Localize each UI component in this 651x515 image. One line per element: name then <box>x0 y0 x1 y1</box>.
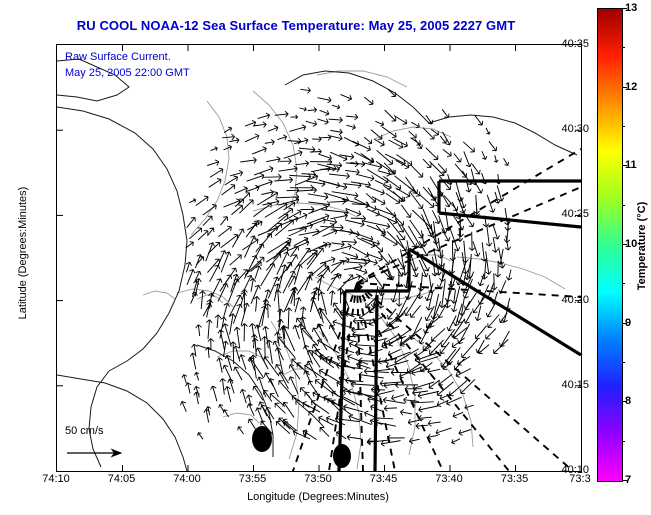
current-vector-head <box>204 409 206 413</box>
x-tick-74-00: 74:00 <box>173 473 201 485</box>
current-vector-head <box>494 287 497 290</box>
current-vector-head <box>444 117 448 118</box>
current-vector-head <box>393 223 397 224</box>
current-vector <box>493 224 498 239</box>
current-vector <box>300 89 310 90</box>
current-vector-head <box>384 386 387 389</box>
current-vector-head <box>477 211 480 214</box>
current-vector-head <box>508 162 509 165</box>
current-vector-head <box>255 134 259 136</box>
current-vector-head <box>227 284 228 288</box>
current-vector <box>302 174 316 175</box>
colorbar-tickmark-7 <box>622 480 627 481</box>
current-vector-head <box>264 357 265 361</box>
current-vector-head <box>190 262 192 266</box>
current-vector-head <box>346 176 349 179</box>
current-vector <box>203 216 212 226</box>
current-vector-head <box>274 264 275 268</box>
current-vector-head <box>246 395 248 399</box>
current-vector-head <box>332 391 336 392</box>
current-vector-head <box>314 107 317 109</box>
current-vector-head <box>240 389 242 393</box>
current-vector-head <box>337 108 340 109</box>
current-vector-head <box>418 208 422 209</box>
current-vector <box>230 314 234 335</box>
current-vector-head <box>496 249 498 252</box>
colorbar-minor-tick <box>622 126 625 127</box>
current-vector <box>418 357 438 363</box>
current-vector-head <box>206 407 208 410</box>
current-vector-head <box>263 122 266 125</box>
current-vector <box>375 213 397 223</box>
current-vector-head <box>273 341 274 345</box>
x-tick-73-45: 73:45 <box>370 473 398 485</box>
current-vector <box>357 174 374 178</box>
current-vector <box>442 250 443 267</box>
current-vector <box>240 160 256 162</box>
current-vector-head <box>210 320 213 323</box>
current-vector-head <box>237 274 239 278</box>
current-vector-head <box>381 444 384 446</box>
current-vector-head <box>252 120 256 122</box>
current-vector <box>367 225 386 232</box>
current-vector <box>284 402 294 417</box>
current-vector-head <box>300 265 302 269</box>
current-vector <box>245 136 259 142</box>
current-vector-head <box>319 369 323 370</box>
current-vector <box>224 200 241 207</box>
current-vector-head <box>211 386 213 390</box>
current-vector <box>367 169 388 182</box>
current-vector-head <box>225 251 227 255</box>
current-vector <box>196 197 208 206</box>
current-vector-head <box>458 247 460 251</box>
current-vector <box>408 226 421 248</box>
current-vector-head <box>231 227 232 231</box>
current-vector <box>411 138 421 145</box>
current-vector <box>343 262 367 264</box>
current-vector-head <box>269 290 271 294</box>
current-vector-head <box>426 328 430 329</box>
current-vector-head <box>503 265 505 269</box>
current-vector-head <box>228 145 231 146</box>
current-vector-head <box>339 166 342 169</box>
current-vector-head <box>239 170 243 172</box>
current-vector <box>320 226 343 228</box>
current-vector-head <box>298 246 299 250</box>
current-vector <box>344 137 359 145</box>
current-vector <box>489 141 496 151</box>
current-vector <box>266 254 280 271</box>
current-vector-head <box>266 299 269 302</box>
current-vector-head <box>285 265 287 269</box>
current-vector-head <box>460 238 463 241</box>
current-vector-head <box>422 204 423 208</box>
current-vector-head <box>329 325 330 329</box>
sst-contour <box>317 71 407 87</box>
current-vector-head <box>422 144 423 148</box>
current-vector <box>429 380 440 388</box>
current-vector-head <box>269 180 273 182</box>
current-vector-head <box>263 244 264 248</box>
current-vector-head <box>463 226 464 230</box>
current-vector-head <box>182 375 184 378</box>
coastline <box>57 107 187 241</box>
current-vector-head <box>278 337 282 338</box>
current-vector <box>345 220 364 225</box>
current-vector-head <box>369 325 373 326</box>
current-vector-head <box>400 410 404 412</box>
current-vector-head <box>343 159 347 161</box>
current-vector <box>383 236 397 245</box>
current-vector-head <box>219 168 223 169</box>
current-vector <box>401 205 410 218</box>
current-vector-head <box>247 404 249 408</box>
current-vector-head <box>276 365 277 369</box>
current-vector <box>352 329 365 330</box>
current-vector-head <box>213 243 215 247</box>
current-vector-head <box>353 321 356 324</box>
current-vector-head <box>341 245 344 248</box>
station-marker <box>252 426 272 452</box>
current-vector <box>231 205 242 214</box>
current-vector-head <box>502 198 504 202</box>
current-vector-head <box>338 274 339 278</box>
current-vector <box>320 259 335 264</box>
current-vector <box>220 317 224 339</box>
current-vector <box>218 227 231 237</box>
current-vector-head <box>253 279 255 282</box>
current-vector-head <box>193 269 195 273</box>
current-vector-head <box>312 351 316 352</box>
current-vector-head <box>210 228 214 229</box>
current-vector <box>411 122 419 127</box>
current-vector-head <box>316 349 320 350</box>
current-vector-head <box>416 426 419 429</box>
current-vector <box>239 193 250 204</box>
current-vector <box>410 192 422 208</box>
current-vector <box>455 164 466 177</box>
current-vector-head <box>453 416 457 418</box>
current-vector <box>367 254 383 260</box>
current-vector <box>218 251 224 266</box>
current-vector <box>443 149 451 156</box>
current-vector-head <box>432 120 433 124</box>
current-vector-head <box>332 400 336 401</box>
current-vector-head <box>304 307 307 310</box>
current-vector-head <box>388 315 389 319</box>
current-vector <box>256 296 257 311</box>
current-vector-head <box>253 386 254 390</box>
sst-contour <box>191 101 229 235</box>
current-vector-head <box>464 319 465 323</box>
radar-coverage-boundary <box>375 295 377 471</box>
current-vector-head <box>325 122 329 124</box>
current-vector-head <box>312 351 313 355</box>
current-vector-head <box>344 404 348 406</box>
current-vector <box>419 260 426 277</box>
current-vector-head <box>234 234 238 235</box>
current-vector <box>210 169 223 177</box>
current-vector-head <box>469 189 471 193</box>
current-vector-head <box>400 346 404 347</box>
current-vector <box>303 403 320 412</box>
current-vector-head <box>447 327 448 331</box>
current-vector-head <box>332 401 333 405</box>
coastline <box>285 71 429 123</box>
current-vector-head <box>428 424 431 427</box>
map-plot-area[interactable]: Raw Surface Current. May 25, 2005 22:00 … <box>56 44 582 472</box>
current-vector <box>320 427 329 436</box>
current-vector <box>329 119 343 120</box>
current-vector <box>295 163 309 165</box>
current-vector <box>275 403 285 413</box>
current-vector-head <box>278 174 281 177</box>
current-vector-head <box>224 317 226 320</box>
current-vector-head <box>497 160 499 163</box>
current-vector-head <box>225 387 227 391</box>
current-vector <box>331 291 333 306</box>
current-vector-head <box>371 246 375 247</box>
current-vector-head <box>454 334 455 338</box>
colorbar-tickmark-11 <box>622 165 627 166</box>
current-vector-head <box>296 194 299 197</box>
current-vector-head <box>298 324 300 328</box>
current-vector <box>229 279 238 302</box>
current-vector-head <box>370 179 374 181</box>
current-vector-head <box>400 239 404 240</box>
current-vector-head <box>229 252 231 256</box>
current-vector-head <box>257 377 259 381</box>
radar-coverage-boundary <box>409 249 581 355</box>
current-vector <box>462 210 473 227</box>
current-vector-head <box>486 313 487 317</box>
current-vector-head <box>476 349 477 353</box>
current-vector <box>463 142 474 152</box>
current-vector <box>187 269 193 284</box>
current-vector-head <box>278 372 279 376</box>
current-vector <box>346 116 358 117</box>
current-vector <box>386 207 404 225</box>
current-vector <box>222 379 224 395</box>
x-tick-73-35: 73:35 <box>501 473 529 485</box>
current-vector-head <box>475 317 477 321</box>
current-vector <box>318 324 328 342</box>
current-vector-head <box>298 150 302 152</box>
x-axis-label: Longitude (Degrees:Minutes) <box>56 491 580 503</box>
current-vector <box>217 315 218 328</box>
current-vector <box>229 295 240 317</box>
current-vector <box>220 405 225 413</box>
current-vector-head <box>292 395 296 396</box>
current-vector-head <box>231 185 235 186</box>
current-vector-head <box>227 226 231 227</box>
current-vector-head <box>495 274 498 277</box>
current-vector <box>441 342 450 353</box>
current-vector <box>269 340 273 364</box>
colorbar-tickmark-9 <box>622 323 627 324</box>
current-vector <box>198 325 199 336</box>
current-vector-head <box>426 273 428 277</box>
current-vector-head <box>260 173 264 175</box>
current-vector <box>288 141 301 142</box>
current-vector-head <box>364 263 367 266</box>
current-vector-head <box>297 210 301 211</box>
current-vector-head <box>266 407 267 411</box>
current-vector <box>261 264 274 286</box>
current-vector <box>488 302 496 317</box>
current-vector <box>388 254 402 276</box>
current-vector <box>352 204 369 205</box>
current-vector <box>411 165 423 177</box>
current-vector <box>331 243 344 245</box>
current-vector-head <box>328 101 332 103</box>
current-vector-head <box>322 184 325 187</box>
current-vector <box>357 364 371 369</box>
current-vector <box>462 339 478 358</box>
current-vector-head <box>452 333 453 337</box>
current-vector-head <box>353 242 356 245</box>
current-vector <box>206 243 213 262</box>
current-vector-head <box>438 131 439 135</box>
current-vector-head <box>264 373 265 377</box>
current-vector-head <box>194 386 196 390</box>
current-vector <box>249 404 254 416</box>
current-vector-head <box>404 285 407 288</box>
current-vector <box>346 208 361 214</box>
current-vector-head <box>325 114 329 116</box>
current-vector-head <box>303 402 307 403</box>
current-vector-head <box>275 348 277 352</box>
current-vector <box>278 290 280 319</box>
current-vector <box>476 326 487 339</box>
current-vector <box>381 441 400 444</box>
current-vector <box>238 427 243 434</box>
current-vector-head <box>228 379 230 383</box>
current-vector-head <box>425 297 427 301</box>
current-vector-head <box>371 387 374 390</box>
current-vector-head <box>478 253 480 257</box>
current-vector <box>497 186 502 202</box>
current-vector <box>331 261 344 274</box>
current-vector-head <box>426 323 427 327</box>
current-vector-head <box>445 298 447 302</box>
current-vector-head <box>319 292 321 296</box>
current-vector <box>255 338 256 356</box>
current-vector-head <box>305 161 308 164</box>
current-vector <box>365 186 384 194</box>
current-vector-head <box>380 384 383 387</box>
annotation-line-1: Raw Surface Current. <box>65 51 171 63</box>
current-vector-head <box>303 213 307 215</box>
current-vector <box>245 236 255 258</box>
current-vector-head <box>311 297 313 301</box>
current-vector <box>220 275 231 291</box>
current-vector <box>208 320 210 339</box>
current-vector <box>235 346 239 362</box>
current-vector-head <box>464 204 466 208</box>
current-vector <box>311 168 330 172</box>
current-vector-head <box>457 319 458 323</box>
current-vector-head <box>271 140 274 142</box>
current-vector-head <box>249 324 252 327</box>
current-vector-head <box>297 318 301 319</box>
current-vector-head <box>457 162 461 163</box>
current-vector-head <box>343 188 347 190</box>
current-vector-head <box>265 357 269 358</box>
current-vector <box>237 327 240 349</box>
current-vector-head <box>447 156 451 157</box>
current-vector-head <box>289 377 290 381</box>
current-vector <box>479 345 490 354</box>
current-vector-head <box>387 174 391 176</box>
current-vector <box>396 188 410 196</box>
current-vector-head <box>440 349 441 353</box>
current-vector-head <box>408 423 412 425</box>
current-vector <box>279 168 298 171</box>
current-vector-head <box>399 148 403 149</box>
current-vector-head <box>313 187 316 190</box>
current-vector-head <box>275 332 278 335</box>
current-vector <box>430 162 444 176</box>
current-vector-head <box>325 197 329 199</box>
current-vector-head <box>361 225 365 227</box>
current-vector <box>505 208 508 225</box>
current-vector-head <box>327 242 331 244</box>
current-vector-head <box>365 256 369 257</box>
current-vector-head <box>451 308 453 312</box>
current-vector-head <box>263 326 266 329</box>
current-vector <box>323 230 337 236</box>
current-vector <box>224 128 231 133</box>
current-vector <box>484 260 486 279</box>
current-vector <box>394 139 408 146</box>
current-vector-head <box>223 365 224 369</box>
current-vector-head <box>351 157 354 159</box>
current-vector <box>230 255 242 265</box>
current-vector <box>329 201 345 202</box>
current-vector-head <box>481 189 482 193</box>
current-vector-head <box>404 397 407 400</box>
current-vector <box>251 279 253 292</box>
current-vector <box>213 386 217 401</box>
current-vector-head <box>478 282 480 286</box>
current-vector-head <box>305 365 309 366</box>
current-vector-head <box>438 314 439 318</box>
current-vector <box>201 291 203 309</box>
y-tick-40-35: 40:35 <box>561 38 589 50</box>
current-vector <box>459 228 460 242</box>
current-vector-head <box>348 389 352 391</box>
sst-contour <box>143 291 175 299</box>
colorbar-tickmark-10 <box>622 244 627 245</box>
current-vector-head <box>217 358 219 362</box>
current-vector-head <box>358 186 361 189</box>
current-vector <box>290 175 311 176</box>
current-vector-head <box>294 271 295 275</box>
current-vector <box>257 348 268 369</box>
current-vector-head <box>403 124 407 125</box>
current-vector-head <box>198 433 199 436</box>
x-tick-73-3: 73:3 <box>569 473 590 485</box>
current-vector <box>225 177 238 185</box>
current-vector-head <box>345 257 349 259</box>
current-vector-head <box>348 99 352 101</box>
current-vector <box>439 374 453 384</box>
current-vector-head <box>386 367 390 369</box>
y-tick-40-20: 40:20 <box>561 294 589 306</box>
current-vector-head <box>293 325 295 329</box>
